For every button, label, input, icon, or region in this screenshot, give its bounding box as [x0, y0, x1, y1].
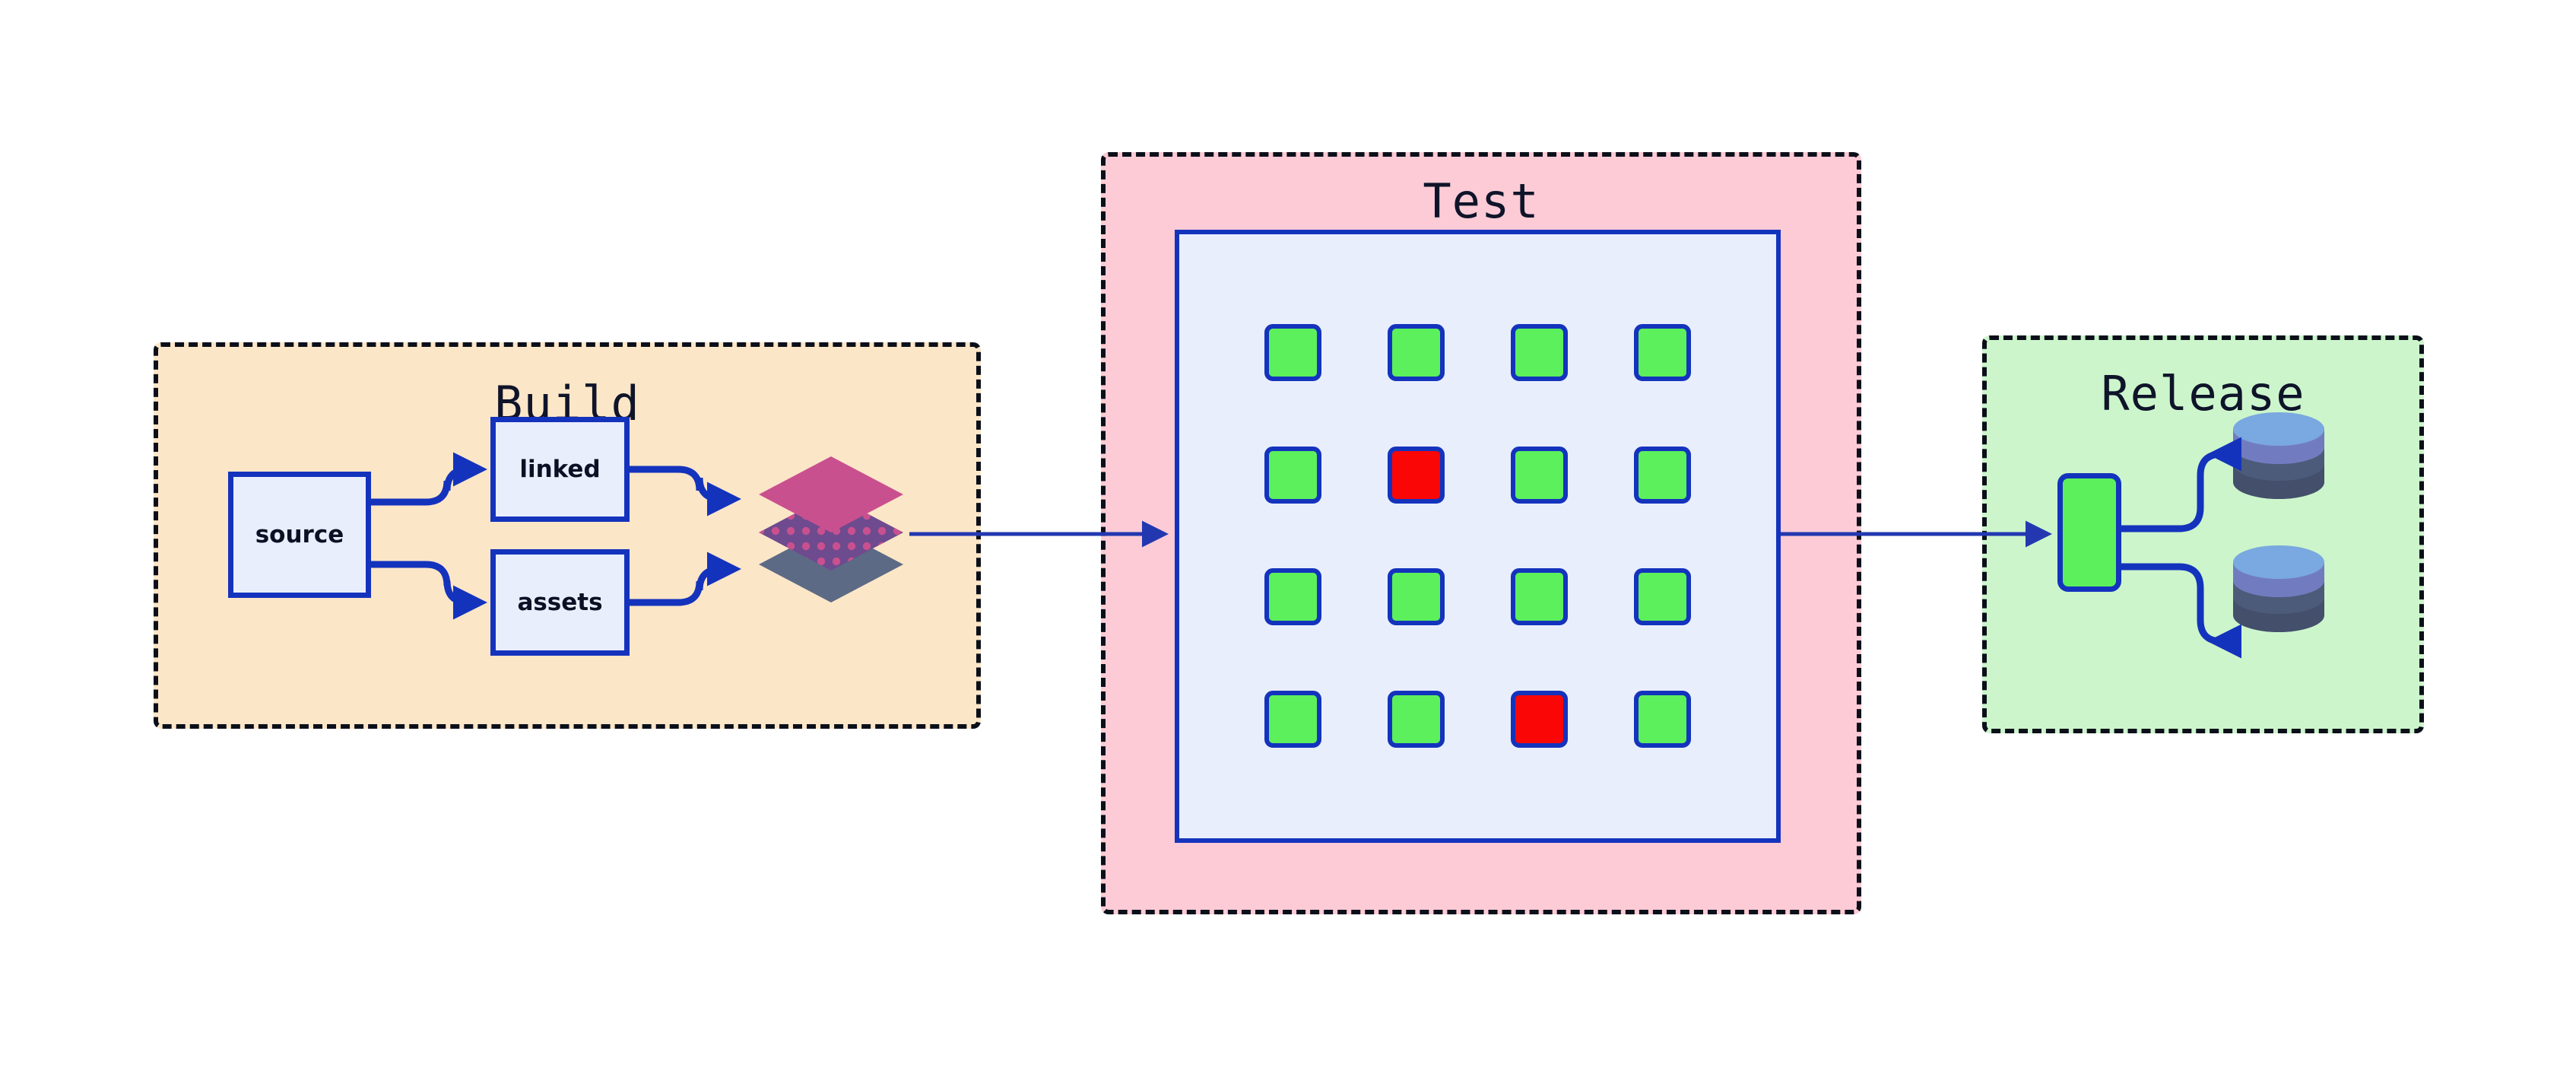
- test-cell-pass[interactable]: [1511, 324, 1568, 381]
- test-cell-pass[interactable]: [1634, 324, 1691, 381]
- test-cell-pass[interactable]: [1264, 324, 1321, 381]
- diagram-canvas: Build source linked assets Test: [0, 0, 2576, 1068]
- test-panel[interactable]: [1175, 230, 1781, 843]
- test-cell-pass[interactable]: [1388, 324, 1445, 381]
- test-result-grid: [1264, 324, 1701, 758]
- test-cell-fail[interactable]: [1511, 691, 1568, 748]
- node-source-label: source: [255, 521, 344, 548]
- node-linked-label: linked: [519, 456, 600, 483]
- group-release-title: Release: [1987, 366, 2419, 421]
- group-test-title: Test: [1106, 173, 1857, 229]
- test-cell-pass[interactable]: [1511, 568, 1568, 625]
- node-assets-label: assets: [517, 589, 602, 616]
- node-source[interactable]: source: [228, 472, 371, 598]
- database-icon[interactable]: [2230, 544, 2327, 634]
- test-cell-pass[interactable]: [1634, 447, 1691, 504]
- test-cell-pass[interactable]: [1388, 691, 1445, 748]
- test-cell-pass[interactable]: [1264, 447, 1321, 504]
- node-assets[interactable]: assets: [490, 549, 630, 656]
- layers-stack-icon[interactable]: [753, 447, 909, 612]
- test-cell-pass[interactable]: [1264, 568, 1321, 625]
- node-linked[interactable]: linked: [490, 417, 630, 522]
- test-cell-fail[interactable]: [1388, 447, 1445, 504]
- test-cell-pass[interactable]: [1388, 568, 1445, 625]
- database-icon[interactable]: [2230, 411, 2327, 501]
- test-cell-pass[interactable]: [1634, 568, 1691, 625]
- test-cell-pass[interactable]: [1634, 691, 1691, 748]
- test-cell-pass[interactable]: [1511, 447, 1568, 504]
- group-release[interactable]: Release: [1982, 335, 2424, 733]
- test-cell-pass[interactable]: [1264, 691, 1321, 748]
- release-bar[interactable]: [2057, 473, 2121, 592]
